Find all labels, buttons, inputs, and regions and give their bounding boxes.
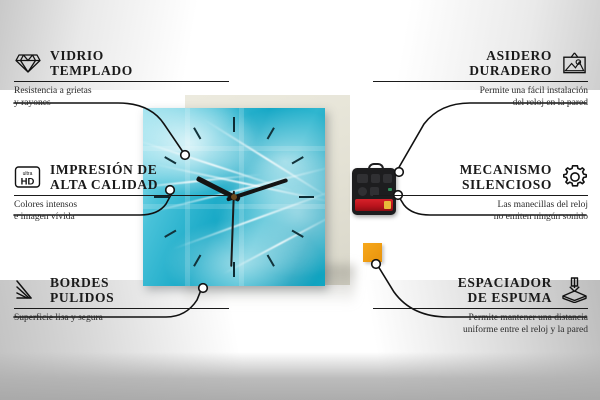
feature-title-line1: MECANISMO bbox=[460, 162, 552, 177]
feature-desc-line1: Permite una fácil instalación bbox=[480, 86, 588, 96]
clock-tick bbox=[234, 196, 314, 198]
feature-title-line2: ALTA CALIDAD bbox=[50, 177, 158, 192]
feature-title-line2: PULIDOS bbox=[50, 290, 114, 305]
feature-bordes-pulidos: BORDES PULIDOS Superficie lisa y segura bbox=[14, 275, 229, 325]
foam-spacer-part bbox=[363, 243, 382, 262]
feature-title-line2: DURADERO bbox=[469, 63, 552, 78]
feature-title-line1: BORDES bbox=[50, 275, 109, 290]
feature-title-line2: SILENCIOSO bbox=[462, 177, 552, 192]
feature-divider bbox=[14, 195, 229, 196]
ultra-hd-icon-bottom: HD bbox=[21, 176, 35, 187]
clock-center-pin bbox=[231, 194, 237, 200]
feature-title-line1: VIDRIO bbox=[50, 48, 104, 63]
feature-divider bbox=[373, 308, 588, 309]
feature-title-line1: ASIDERO bbox=[486, 48, 552, 63]
gear-icon bbox=[561, 164, 588, 191]
feature-title-line1: ESPACIADOR bbox=[458, 275, 552, 290]
feature-divider bbox=[14, 308, 229, 309]
feature-impresion-alta-calidad: ultra HD IMPRESIÓN DE ALTA CALIDAD Color… bbox=[14, 162, 229, 223]
feature-vidrio-templado: VIDRIO TEMPLADO Resistencia a grietas y … bbox=[14, 48, 229, 109]
feature-desc-line2: no emiten ningún sonido bbox=[494, 212, 588, 222]
feature-desc-line1: Colores intensos bbox=[14, 200, 77, 210]
feature-desc-line2: e imagen vívida bbox=[14, 212, 75, 222]
picture-hanger-icon bbox=[561, 50, 588, 77]
feature-divider bbox=[373, 195, 588, 196]
background-floor-shadow bbox=[0, 352, 600, 400]
infographic-canvas: VIDRIO TEMPLADO Resistencia a grietas y … bbox=[0, 0, 600, 400]
feature-desc-line1: Superficie lisa y segura bbox=[14, 313, 103, 323]
foam-spacer-icon bbox=[561, 277, 588, 304]
feature-desc-line2: del reloj en la pared bbox=[513, 98, 588, 108]
feature-title-line2: DE ESPUMA bbox=[467, 290, 552, 305]
feature-title-line2: TEMPLADO bbox=[50, 63, 133, 78]
feature-espaciador-de-espuma: ESPACIADOR DE ESPUMA Permite mantener un… bbox=[373, 275, 588, 336]
feature-desc-line1: Permite mantener una distancia bbox=[469, 313, 589, 323]
feature-desc-line1: Las manecillas del reloj bbox=[498, 200, 588, 210]
feature-desc-line1: Resistencia a grietas bbox=[14, 86, 92, 96]
feature-divider bbox=[373, 81, 588, 82]
feature-desc-line2: y rayones bbox=[14, 98, 51, 108]
polished-edges-icon bbox=[14, 277, 41, 304]
clock-tick bbox=[233, 117, 235, 197]
feature-divider bbox=[14, 81, 229, 82]
feature-desc-line2: uniforme entre el reloj y la pared bbox=[463, 325, 588, 335]
feature-asidero-duradero: ASIDERO DURADERO Permite una fácil insta… bbox=[373, 48, 588, 109]
feature-title-line1: IMPRESIÓN DE bbox=[50, 162, 157, 177]
feature-mecanismo-silencioso: MECANISMO SILENCIOSO Las manecillas del … bbox=[373, 162, 588, 223]
diamond-icon bbox=[14, 50, 41, 77]
ultra-hd-icon: ultra HD bbox=[14, 164, 41, 191]
